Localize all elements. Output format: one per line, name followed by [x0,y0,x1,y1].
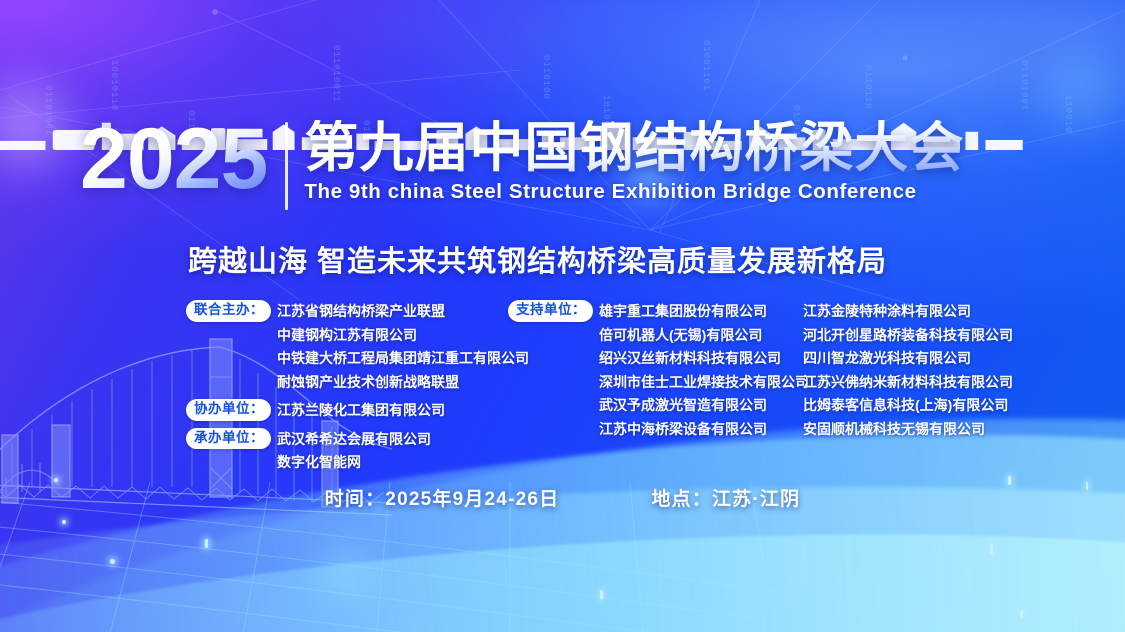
org-block: 承办单位： 武汉希希达会展有限公司 数字化智能网 [186,428,506,475]
org-name: 四川智龙激光科技有限公司 [803,347,1083,371]
org-name-list: 雄宇重工集团股份有限公司 倍可机器人(无锡)有限公司 绍兴汉丝新材料科技有限公司… [599,300,809,441]
title-text-group: 第九届中国钢结构桥梁大会 The 9th china Steel Structu… [304,118,964,204]
title-block: 2025 第九届中国钢结构桥梁大会 The 9th china Steel St… [80,118,964,210]
org-role-badge: 支持单位： [508,300,593,322]
org-role-badge: 协办单位： [186,399,271,421]
org-name: 比姆泰客信息科技(上海)有限公司 [803,394,1083,418]
event-location: 地点：江苏·江阴 [651,484,800,511]
event-footer: 时间：2025年9月24-26日 地点：江苏·江阴 [0,484,1125,511]
org-name-list: 武汉希希达会展有限公司 数字化智能网 [277,428,506,475]
conference-banner: 01101001 10010110 0110 011010011 01101 0… [0,0,1125,632]
org-name: 深圳市佳士工业焊接技术有限公司 [599,371,809,395]
org-block: 协办单位： 江苏兰陵化工集团有限公司 [186,399,506,423]
conference-title-cn: 第九届中国钢结构桥梁大会 [304,120,964,176]
title-divider [285,122,288,210]
organizations-column-1: 联合主办： 江苏省钢结构桥梁产业联盟 中建钢构江苏有限公司 中铁建大桥工程局集团… [186,300,506,480]
org-role-badge: 联合主办： [186,300,271,322]
org-name: 数字化智能网 [277,451,506,475]
org-role-badge: 承办单位： [186,428,271,450]
org-block: 江苏金陵特种涂料有限公司 河北开创星路桥装备科技有限公司 四川智龙激光科技有限公… [803,300,1083,441]
event-date: 时间：2025年9月24-26日 [325,484,560,511]
org-name: 江苏省钢结构桥梁产业联盟 [277,300,529,324]
organizations-column-2: 支持单位： 雄宇重工集团股份有限公司 倍可机器人(无锡)有限公司 绍兴汉丝新材料… [508,300,808,446]
conference-title-en: The 9th china Steel Structure Exhibition… [304,180,964,204]
year-2025: 2025 [80,118,267,201]
organizations-column-3: 江苏金陵特种涂料有限公司 河北开创星路桥装备科技有限公司 四川智龙激光科技有限公… [803,300,1083,446]
org-name: 倍可机器人(无锡)有限公司 [599,324,809,348]
org-name-list: 江苏省钢结构桥梁产业联盟 中建钢构江苏有限公司 中铁建大桥工程局集团靖江重工有限… [277,300,529,394]
org-name: 江苏中海桥梁设备有限公司 [599,418,809,442]
org-name-list: 江苏金陵特种涂料有限公司 河北开创星路桥装备科技有限公司 四川智龙激光科技有限公… [803,300,1083,441]
conference-slogan: 跨越山海 智造未来共筑钢结构桥梁高质量发展新格局 [188,238,887,280]
org-name: 耐蚀钢产业技术创新战略联盟 [277,371,529,395]
org-name: 江苏金陵特种涂料有限公司 [803,300,1083,324]
org-name: 中铁建大桥工程局集团靖江重工有限公司 [277,347,529,371]
org-name: 河北开创星路桥装备科技有限公司 [803,324,1083,348]
org-name: 雄宇重工集团股份有限公司 [599,300,809,324]
org-name: 安固顺机械科技无锡有限公司 [803,418,1083,442]
org-name: 绍兴汉丝新材料科技有限公司 [599,347,809,371]
org-name-list: 江苏兰陵化工集团有限公司 [277,399,506,423]
org-name: 武汉予成激光智造有限公司 [599,394,809,418]
org-block: 支持单位： 雄宇重工集团股份有限公司 倍可机器人(无锡)有限公司 绍兴汉丝新材料… [508,300,808,441]
org-name: 中建钢构江苏有限公司 [277,324,529,348]
content-layer: 2025 第九届中国钢结构桥梁大会 The 9th china Steel St… [0,0,1125,632]
org-name: 江苏兰陵化工集团有限公司 [277,399,506,423]
org-name: 武汉希希达会展有限公司 [277,428,506,452]
org-name: 江苏兴佛纳米新材料科技有限公司 [803,371,1083,395]
org-block: 联合主办： 江苏省钢结构桥梁产业联盟 中建钢构江苏有限公司 中铁建大桥工程局集团… [186,300,506,394]
